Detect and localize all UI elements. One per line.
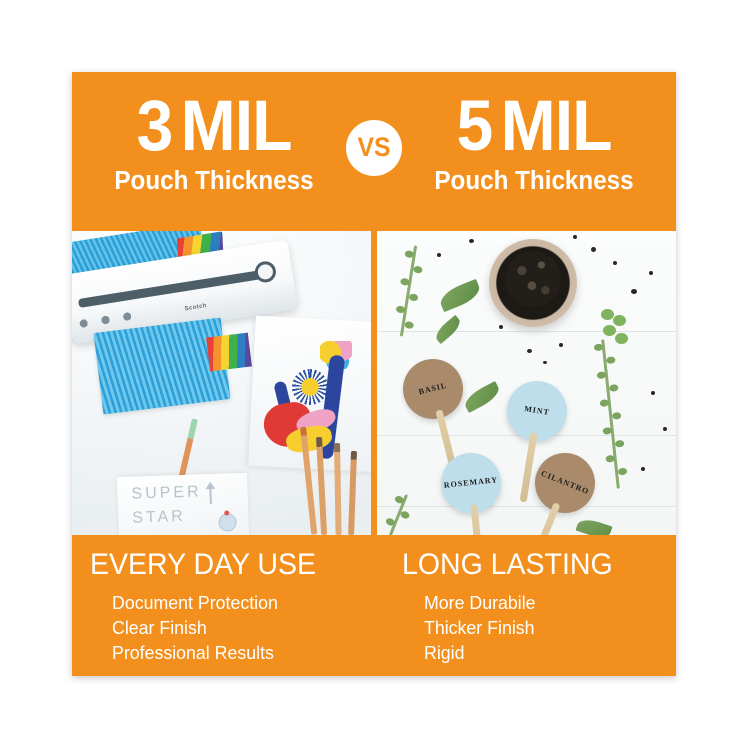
headline-5mil-unit: MIL bbox=[501, 87, 612, 166]
header-column-3mil: 3MIL Pouch Thickness bbox=[78, 90, 350, 215]
handwritten-note: SUPER STAR bbox=[117, 473, 249, 535]
footer-list-everyday: Document Protection Clear Finish Profess… bbox=[90, 590, 380, 665]
header-band: 3MIL Pouch Thickness VS 5MIL Pouch Thick… bbox=[72, 72, 676, 231]
soil-speck bbox=[543, 361, 547, 364]
footer-column-everyday: EVERY DAY USE Document Protection Clear … bbox=[90, 547, 380, 665]
soil-speck bbox=[641, 467, 645, 471]
list-item: Document Protection bbox=[112, 590, 369, 615]
footer-title-everyday: EVERY DAY USE bbox=[90, 547, 366, 583]
note-arrow-icon bbox=[209, 484, 212, 504]
laminator-brand-label: Scotch bbox=[184, 303, 207, 312]
herb-marker-basil-label: BASIL bbox=[418, 381, 449, 398]
photo-everyday-use: Scotch bbox=[72, 231, 371, 535]
headline-5mil: 5MIL bbox=[408, 90, 661, 164]
footer-title-longlasting: LONG LASTING bbox=[402, 547, 676, 583]
header-column-5mil: 5MIL Pouch Thickness bbox=[398, 90, 670, 215]
comparison-panel: 3MIL Pouch Thickness VS 5MIL Pouch Thick… bbox=[72, 72, 676, 676]
herb-marker-mint-label: MINT bbox=[523, 404, 550, 418]
headline-3mil-number: 3 bbox=[136, 87, 172, 166]
herb-marker-rosemary-label: ROSEMARY bbox=[443, 475, 498, 491]
soil-speck bbox=[651, 391, 655, 395]
infographic-canvas: 3MIL Pouch Thickness VS 5MIL Pouch Thick… bbox=[0, 0, 750, 750]
laminator-slot bbox=[78, 269, 267, 308]
list-item: Rigid bbox=[424, 640, 676, 665]
footer-list-longlasting: More Durabile Thicker Finish Rigid bbox=[402, 590, 676, 665]
potting-soil bbox=[505, 251, 561, 307]
soil-speck bbox=[499, 325, 503, 329]
plank-line-1 bbox=[377, 331, 676, 332]
laminator-knob bbox=[253, 260, 277, 284]
note-line-2: STAR bbox=[132, 508, 186, 528]
note-balloon-doodle bbox=[218, 513, 237, 532]
seedling-sprout bbox=[599, 309, 629, 351]
soil-speck bbox=[437, 253, 441, 257]
soil-speck bbox=[573, 235, 577, 239]
list-item: Clear Finish bbox=[112, 615, 369, 640]
list-item: Thicker Finish bbox=[424, 615, 676, 640]
soil-speck bbox=[649, 271, 653, 275]
soil-speck bbox=[591, 247, 596, 252]
list-item: Professional Results bbox=[112, 640, 369, 665]
list-item: More Durabile bbox=[424, 590, 676, 615]
soil-speck bbox=[663, 427, 667, 431]
painted-sun bbox=[292, 369, 328, 405]
subhead-3mil: Pouch Thickness bbox=[85, 166, 343, 196]
subhead-5mil: Pouch Thickness bbox=[405, 166, 663, 196]
footer-band: EVERY DAY USE Document Protection Clear … bbox=[72, 535, 676, 676]
vs-badge-label: VS bbox=[357, 134, 390, 161]
soil-speck bbox=[527, 349, 532, 353]
soil-speck bbox=[559, 343, 563, 347]
vs-badge: VS bbox=[346, 120, 402, 176]
herb-marker-cilantro-label: CILANTRO bbox=[539, 469, 590, 497]
soil-speck bbox=[631, 289, 637, 294]
rainbow-artwork-mid bbox=[206, 333, 252, 372]
headline-5mil-number: 5 bbox=[456, 87, 492, 166]
note-line-1: SUPER bbox=[131, 483, 202, 503]
soil-speck bbox=[469, 239, 474, 243]
painted-artwork bbox=[262, 349, 358, 469]
terracotta-pot bbox=[489, 239, 577, 327]
headline-3mil-unit: MIL bbox=[181, 87, 292, 166]
footer-column-longlasting: LONG LASTING More Durabile Thicker Finis… bbox=[402, 547, 676, 665]
plank-line-3 bbox=[377, 506, 676, 507]
photo-long-lasting: BASIL MINT ROSEMARY CILANTRO bbox=[377, 231, 676, 535]
soil-speck bbox=[613, 261, 617, 265]
headline-3mil: 3MIL bbox=[88, 90, 341, 164]
photo-strip: Scotch bbox=[72, 231, 676, 535]
